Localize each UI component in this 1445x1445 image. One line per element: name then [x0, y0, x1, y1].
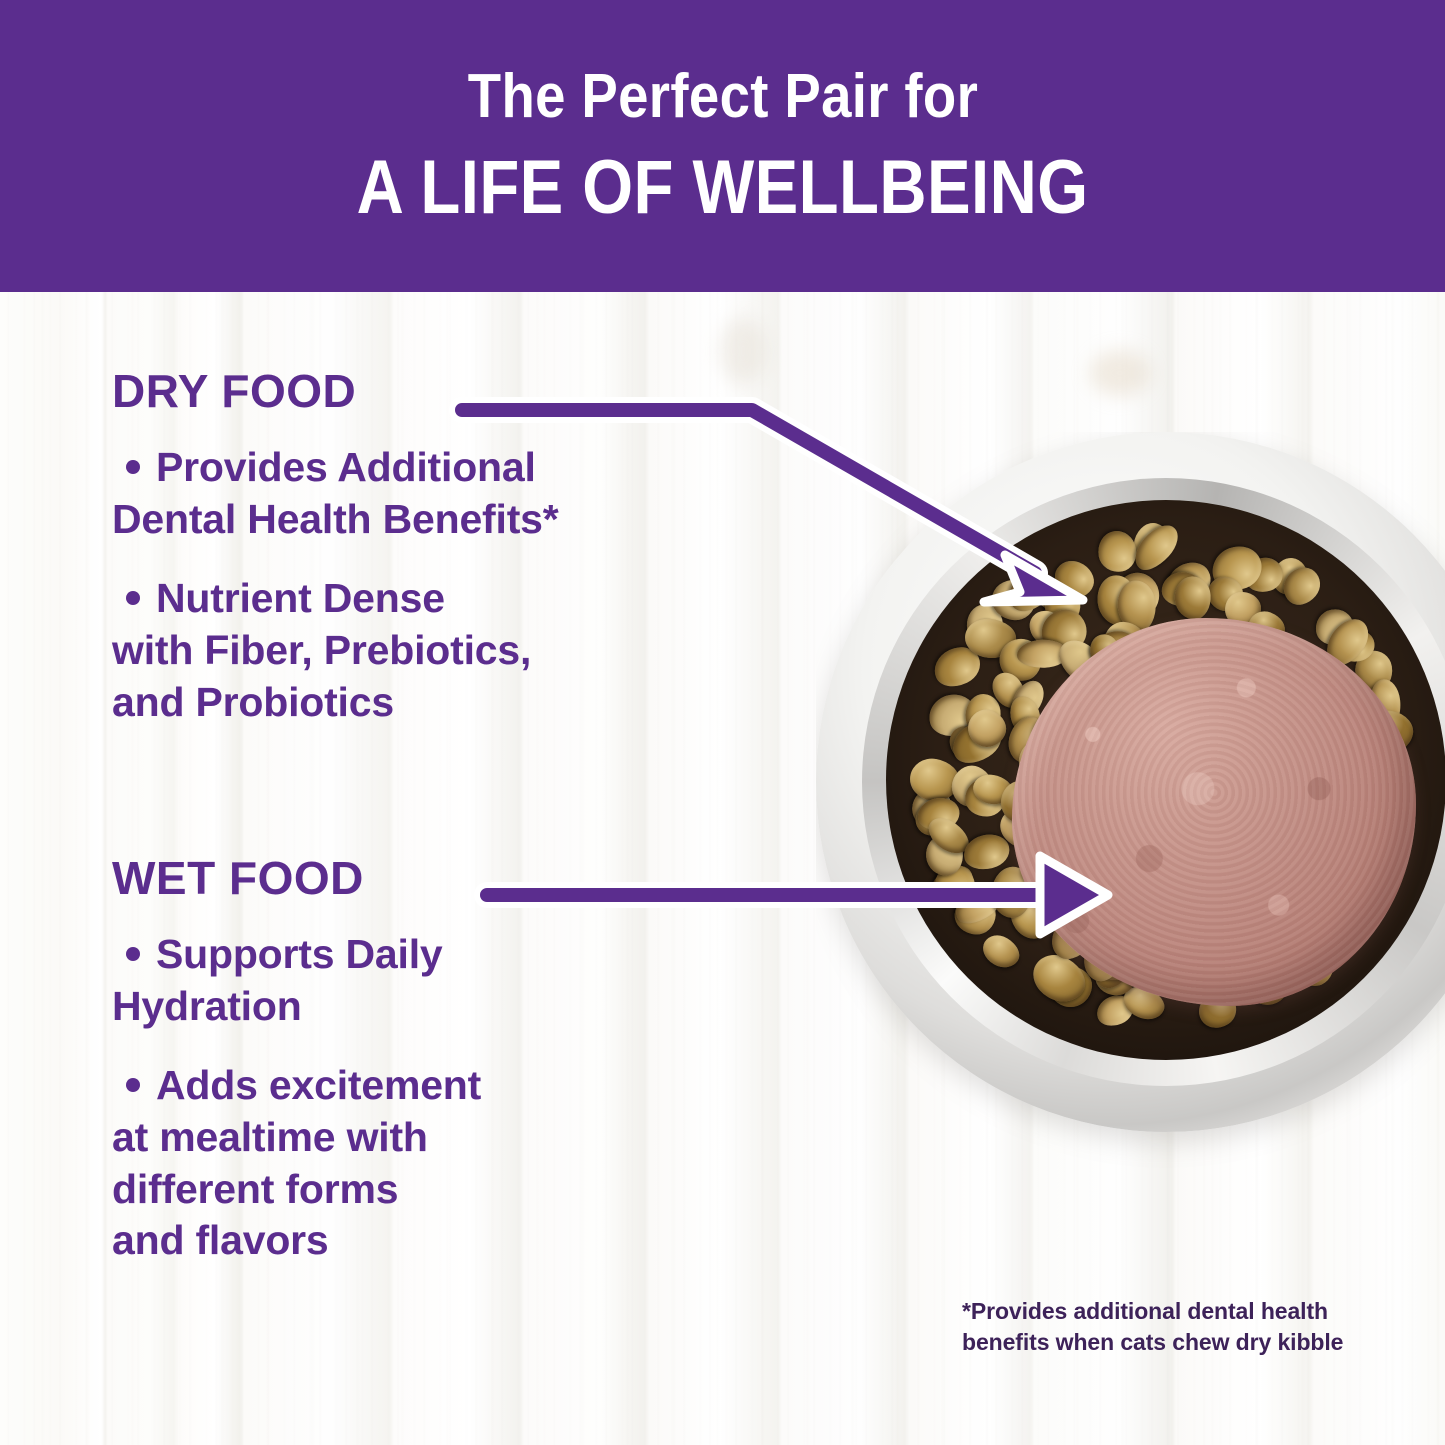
- background-smudge: [1090, 350, 1150, 396]
- bullet-text: Provides Additional Dental Health Benefi…: [112, 444, 559, 542]
- wet-food-bullet-list: Supports Daily Hydration Adds excitement…: [112, 929, 812, 1267]
- infographic-canvas: The Perfect Pair for A LIFE OF WELLBEING…: [0, 0, 1445, 1445]
- dry-food-bullet-list: Provides Additional Dental Health Benefi…: [112, 442, 812, 728]
- bullet-dot-icon: [126, 947, 140, 961]
- header-line-1: The Perfect Pair for: [467, 66, 977, 128]
- bullet-dot-icon: [126, 460, 140, 474]
- header-line-2: A LIFE OF WELLBEING: [357, 150, 1089, 226]
- bullet-text: Nutrient Dense with Fiber, Prebiotics, a…: [112, 575, 531, 724]
- dry-food-title: DRY FOOD: [112, 368, 812, 414]
- bullet-dot-icon: [126, 591, 140, 605]
- footnote-text: *Provides additional dental health benef…: [962, 1296, 1392, 1358]
- bullet-text: Supports Daily Hydration: [112, 931, 443, 1029]
- list-item: Nutrient Dense with Fiber, Prebiotics, a…: [112, 573, 812, 728]
- dry-food-section: DRY FOOD Provides Additional Dental Heal…: [112, 368, 812, 756]
- wet-food-section: WET FOOD Supports Daily Hydration Adds e…: [112, 855, 812, 1295]
- list-item: Provides Additional Dental Health Benefi…: [112, 442, 812, 545]
- bullet-text: Adds excitement at mealtime with differe…: [112, 1062, 481, 1263]
- list-item: Adds excitement at mealtime with differe…: [112, 1060, 812, 1267]
- bullet-dot-icon: [126, 1078, 140, 1092]
- header-banner: The Perfect Pair for A LIFE OF WELLBEING: [0, 0, 1445, 292]
- wet-food-title: WET FOOD: [112, 855, 812, 901]
- list-item: Supports Daily Hydration: [112, 929, 812, 1032]
